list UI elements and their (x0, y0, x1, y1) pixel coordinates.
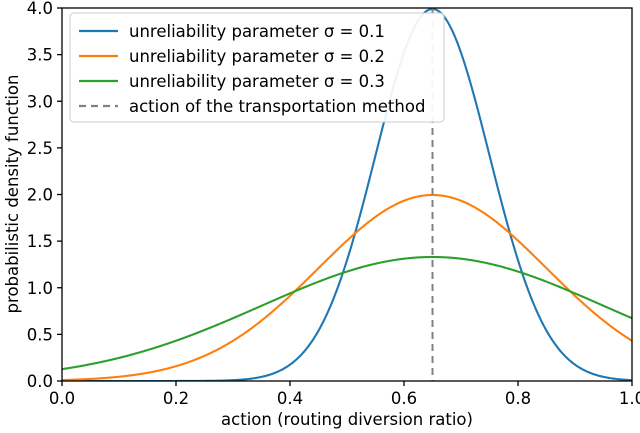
legend-label-1: unreliability parameter σ = 0.2 (129, 47, 385, 66)
figure-canvas: 0.00.20.40.60.81.0 0.00.51.01.52.02.53.0… (0, 0, 640, 433)
y-tick-label: 0.5 (27, 325, 53, 344)
x-tick-label: 0.6 (391, 389, 417, 408)
legend-label-3: action of the transportation method (129, 97, 425, 116)
x-axis-title: action (routing diversion ratio) (221, 410, 473, 429)
y-tick-label: 1.5 (27, 232, 53, 251)
y-tick-label: 4.0 (27, 0, 53, 18)
legend-label-2: unreliability parameter σ = 0.3 (129, 72, 385, 91)
y-tick-label: 2.0 (27, 186, 53, 205)
y-tick-label: 1.0 (27, 279, 53, 298)
x-tick-label: 0.8 (505, 389, 531, 408)
y-tick-label: 2.5 (27, 139, 53, 158)
y-tick-label: 0.0 (27, 372, 53, 391)
chart-legend[interactable]: unreliability parameter σ = 0.1unreliabi… (70, 13, 444, 122)
y-axis-title: probabilistic density function (3, 75, 22, 314)
x-tick-label: 0.2 (163, 389, 189, 408)
x-axis-ticks: 0.00.20.40.60.81.0 (49, 381, 640, 408)
x-tick-label: 0.4 (277, 389, 303, 408)
y-axis-ticks: 0.00.51.01.52.02.53.03.54.0 (27, 0, 62, 391)
y-tick-label: 3.0 (27, 92, 53, 111)
x-tick-label: 1.0 (619, 389, 640, 408)
y-tick-label: 3.5 (27, 46, 53, 65)
chart-svg: 0.00.20.40.60.81.0 0.00.51.01.52.02.53.0… (0, 0, 640, 433)
x-tick-label: 0.0 (49, 389, 75, 408)
legend-label-0: unreliability parameter σ = 0.1 (129, 22, 385, 41)
